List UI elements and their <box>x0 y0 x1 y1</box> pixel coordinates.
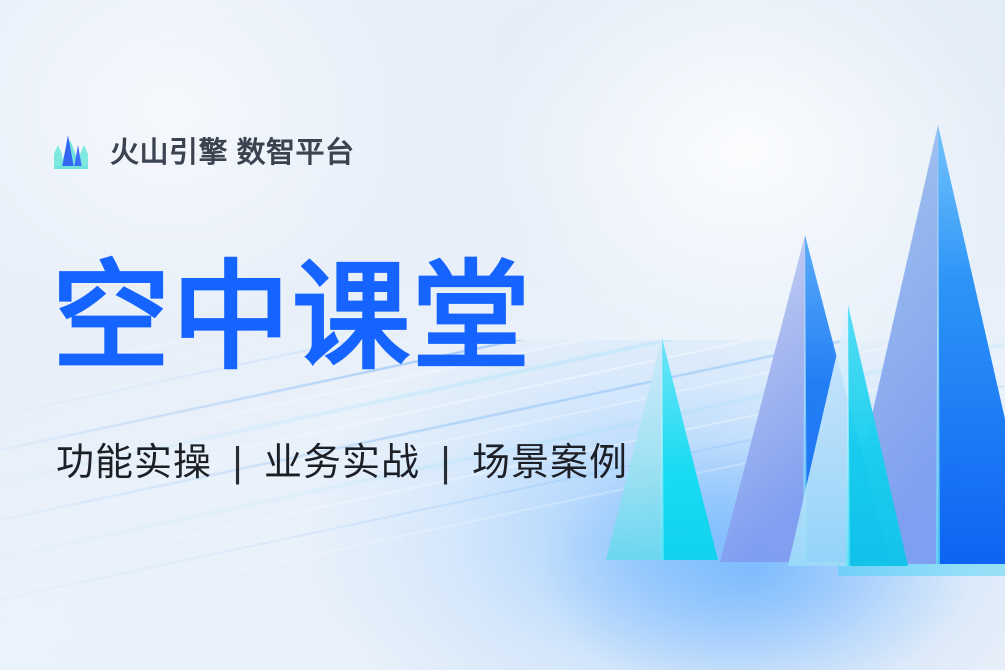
volcano-mountain-logo-icon <box>46 126 96 174</box>
subtitle-part-2: 业务实战 <box>264 440 420 484</box>
background-wash-bottom-left <box>0 360 560 670</box>
pyramid-group <box>600 90 1005 590</box>
promo-banner: 火山引擎 数智平台 空中课堂 功能实操 | 业务实战 | 场景案例 <box>0 0 1005 670</box>
subtitle-separator-1: | <box>225 440 251 484</box>
page-title: 空中课堂 <box>52 258 532 376</box>
page-subtitle: 功能实操 | 业务实战 | 场景案例 <box>56 440 628 486</box>
subtitle-part-3: 场景案例 <box>472 440 628 484</box>
subtitle-separator-2: | <box>433 440 459 484</box>
brand-name-text: 火山引擎 数智平台 <box>110 129 355 171</box>
brand-lockup: 火山引擎 数智平台 <box>46 126 355 174</box>
subtitle-part-1: 功能实操 <box>56 440 212 484</box>
